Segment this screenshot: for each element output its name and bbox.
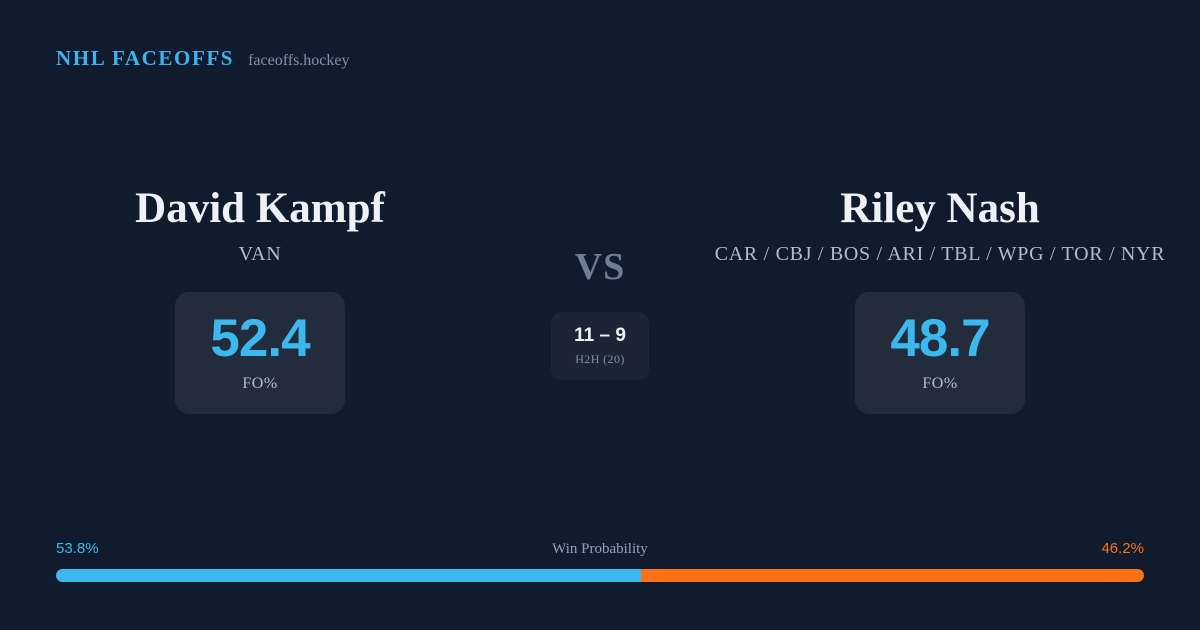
brand-domain: faceoffs.hockey bbox=[248, 52, 349, 70]
player-right-stat-card: 48.7 FO% bbox=[855, 292, 1025, 414]
player-right-name: Riley Nash bbox=[840, 186, 1039, 232]
player-left-stat-card: 52.4 FO% bbox=[175, 292, 345, 414]
player-right-teams: CAR / CBJ / BOS / ARI / TBL / WPG / TOR … bbox=[715, 243, 1165, 266]
brand-title: NHL FACEOFFS bbox=[56, 46, 234, 71]
player-right: Riley Nash CAR / CBJ / BOS / ARI / TBL /… bbox=[700, 186, 1180, 414]
player-right-faceoff-pct: 48.7 bbox=[890, 312, 989, 365]
versus-column: VS 11 – 9 H2H (20) bbox=[500, 186, 700, 380]
player-left-stat-label: FO% bbox=[242, 375, 277, 393]
player-left: David Kampf VAN 52.4 FO% bbox=[20, 186, 500, 414]
head-to-head-label: H2H (20) bbox=[575, 352, 625, 367]
head-to-head-box: 11 – 9 H2H (20) bbox=[551, 312, 649, 380]
win-probability-bar bbox=[56, 569, 1144, 582]
player-left-name: David Kampf bbox=[135, 186, 385, 232]
head-to-head-score: 11 – 9 bbox=[574, 326, 626, 345]
win-probability-fill-left bbox=[56, 569, 641, 582]
player-right-stat-label: FO% bbox=[922, 375, 957, 393]
player-left-teams: VAN bbox=[239, 243, 282, 266]
player-left-faceoff-pct: 52.4 bbox=[210, 312, 309, 365]
win-probability-legend: 53.8% Win Probability 46.2% bbox=[56, 540, 1144, 560]
win-probability-title: Win Probability bbox=[56, 541, 1144, 558]
brand-bar: NHL FACEOFFS faceoffs.hockey bbox=[56, 46, 350, 71]
matchup-section: David Kampf VAN 52.4 FO% VS 11 – 9 H2H (… bbox=[0, 186, 1200, 414]
win-probability-section: 53.8% Win Probability 46.2% bbox=[56, 540, 1144, 582]
win-probability-right-value: 46.2% bbox=[1101, 540, 1144, 557]
versus-label: VS bbox=[575, 248, 626, 286]
win-probability-fill-right bbox=[641, 569, 1144, 582]
